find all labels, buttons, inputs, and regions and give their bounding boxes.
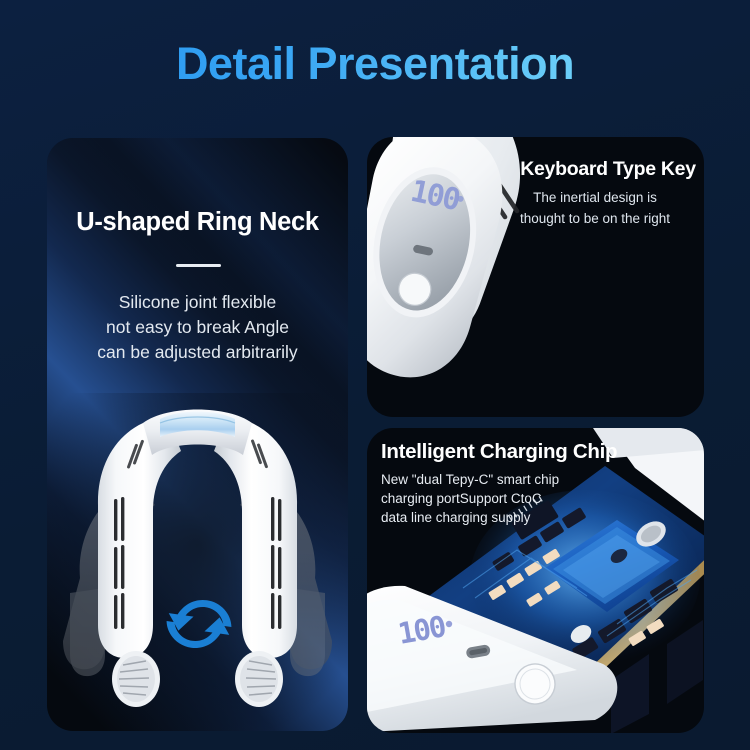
rotation-arrows-icon [163, 588, 235, 660]
left-panel-subtitle: Silicone joint flexible not easy to brea… [47, 290, 348, 365]
bottom-right-panel-title: Intelligent Charging Chip [381, 440, 617, 464]
br-subtitle-line-1: New "dual Tepy-C" smart chip [381, 470, 596, 489]
panel-keyboard-type-key: 100 Keyboard Type Key The inertial desig… [367, 137, 704, 417]
tr-subtitle-line-2: thought to be on the right [493, 208, 697, 229]
page-title: Detail Presentation [0, 38, 750, 90]
bottom-right-panel-subtitle: New "dual Tepy-C" smart chip charging po… [381, 470, 596, 527]
fan-indicator-icon [446, 621, 452, 627]
top-right-panel-subtitle: The inertial design is thought to be on … [493, 187, 697, 229]
top-right-panel-title: Keyboard Type Key [519, 158, 697, 181]
br-subtitle-line-3: data line charging supply [381, 508, 596, 527]
br-subtitle-line-2: charging portSupport CtoC [381, 489, 596, 508]
title-divider [176, 264, 221, 267]
left-subtitle-line-3: can be adjusted arbitrarily [47, 340, 348, 365]
neck-fan-product-image [47, 393, 348, 731]
panel-intelligent-charging-chip: 100 Intelligent Charging Chip New "dual … [367, 428, 704, 733]
neck-fan-illustration [47, 393, 348, 731]
left-subtitle-line-1: Silicone joint flexible [47, 290, 348, 315]
fan-grille-right [235, 651, 283, 707]
left-subtitle-line-2: not easy to break Angle [47, 315, 348, 340]
left-panel-title: U-shaped Ring Neck [47, 208, 348, 237]
panel-u-shaped-ring-neck: U-shaped Ring Neck Silicone joint flexib… [47, 138, 348, 731]
tr-subtitle-line-1: The inertial design is [493, 187, 697, 208]
product-detail-page: Detail Presentation U-shaped Ring Neck S… [0, 0, 750, 750]
fan-grille-left [112, 651, 160, 707]
